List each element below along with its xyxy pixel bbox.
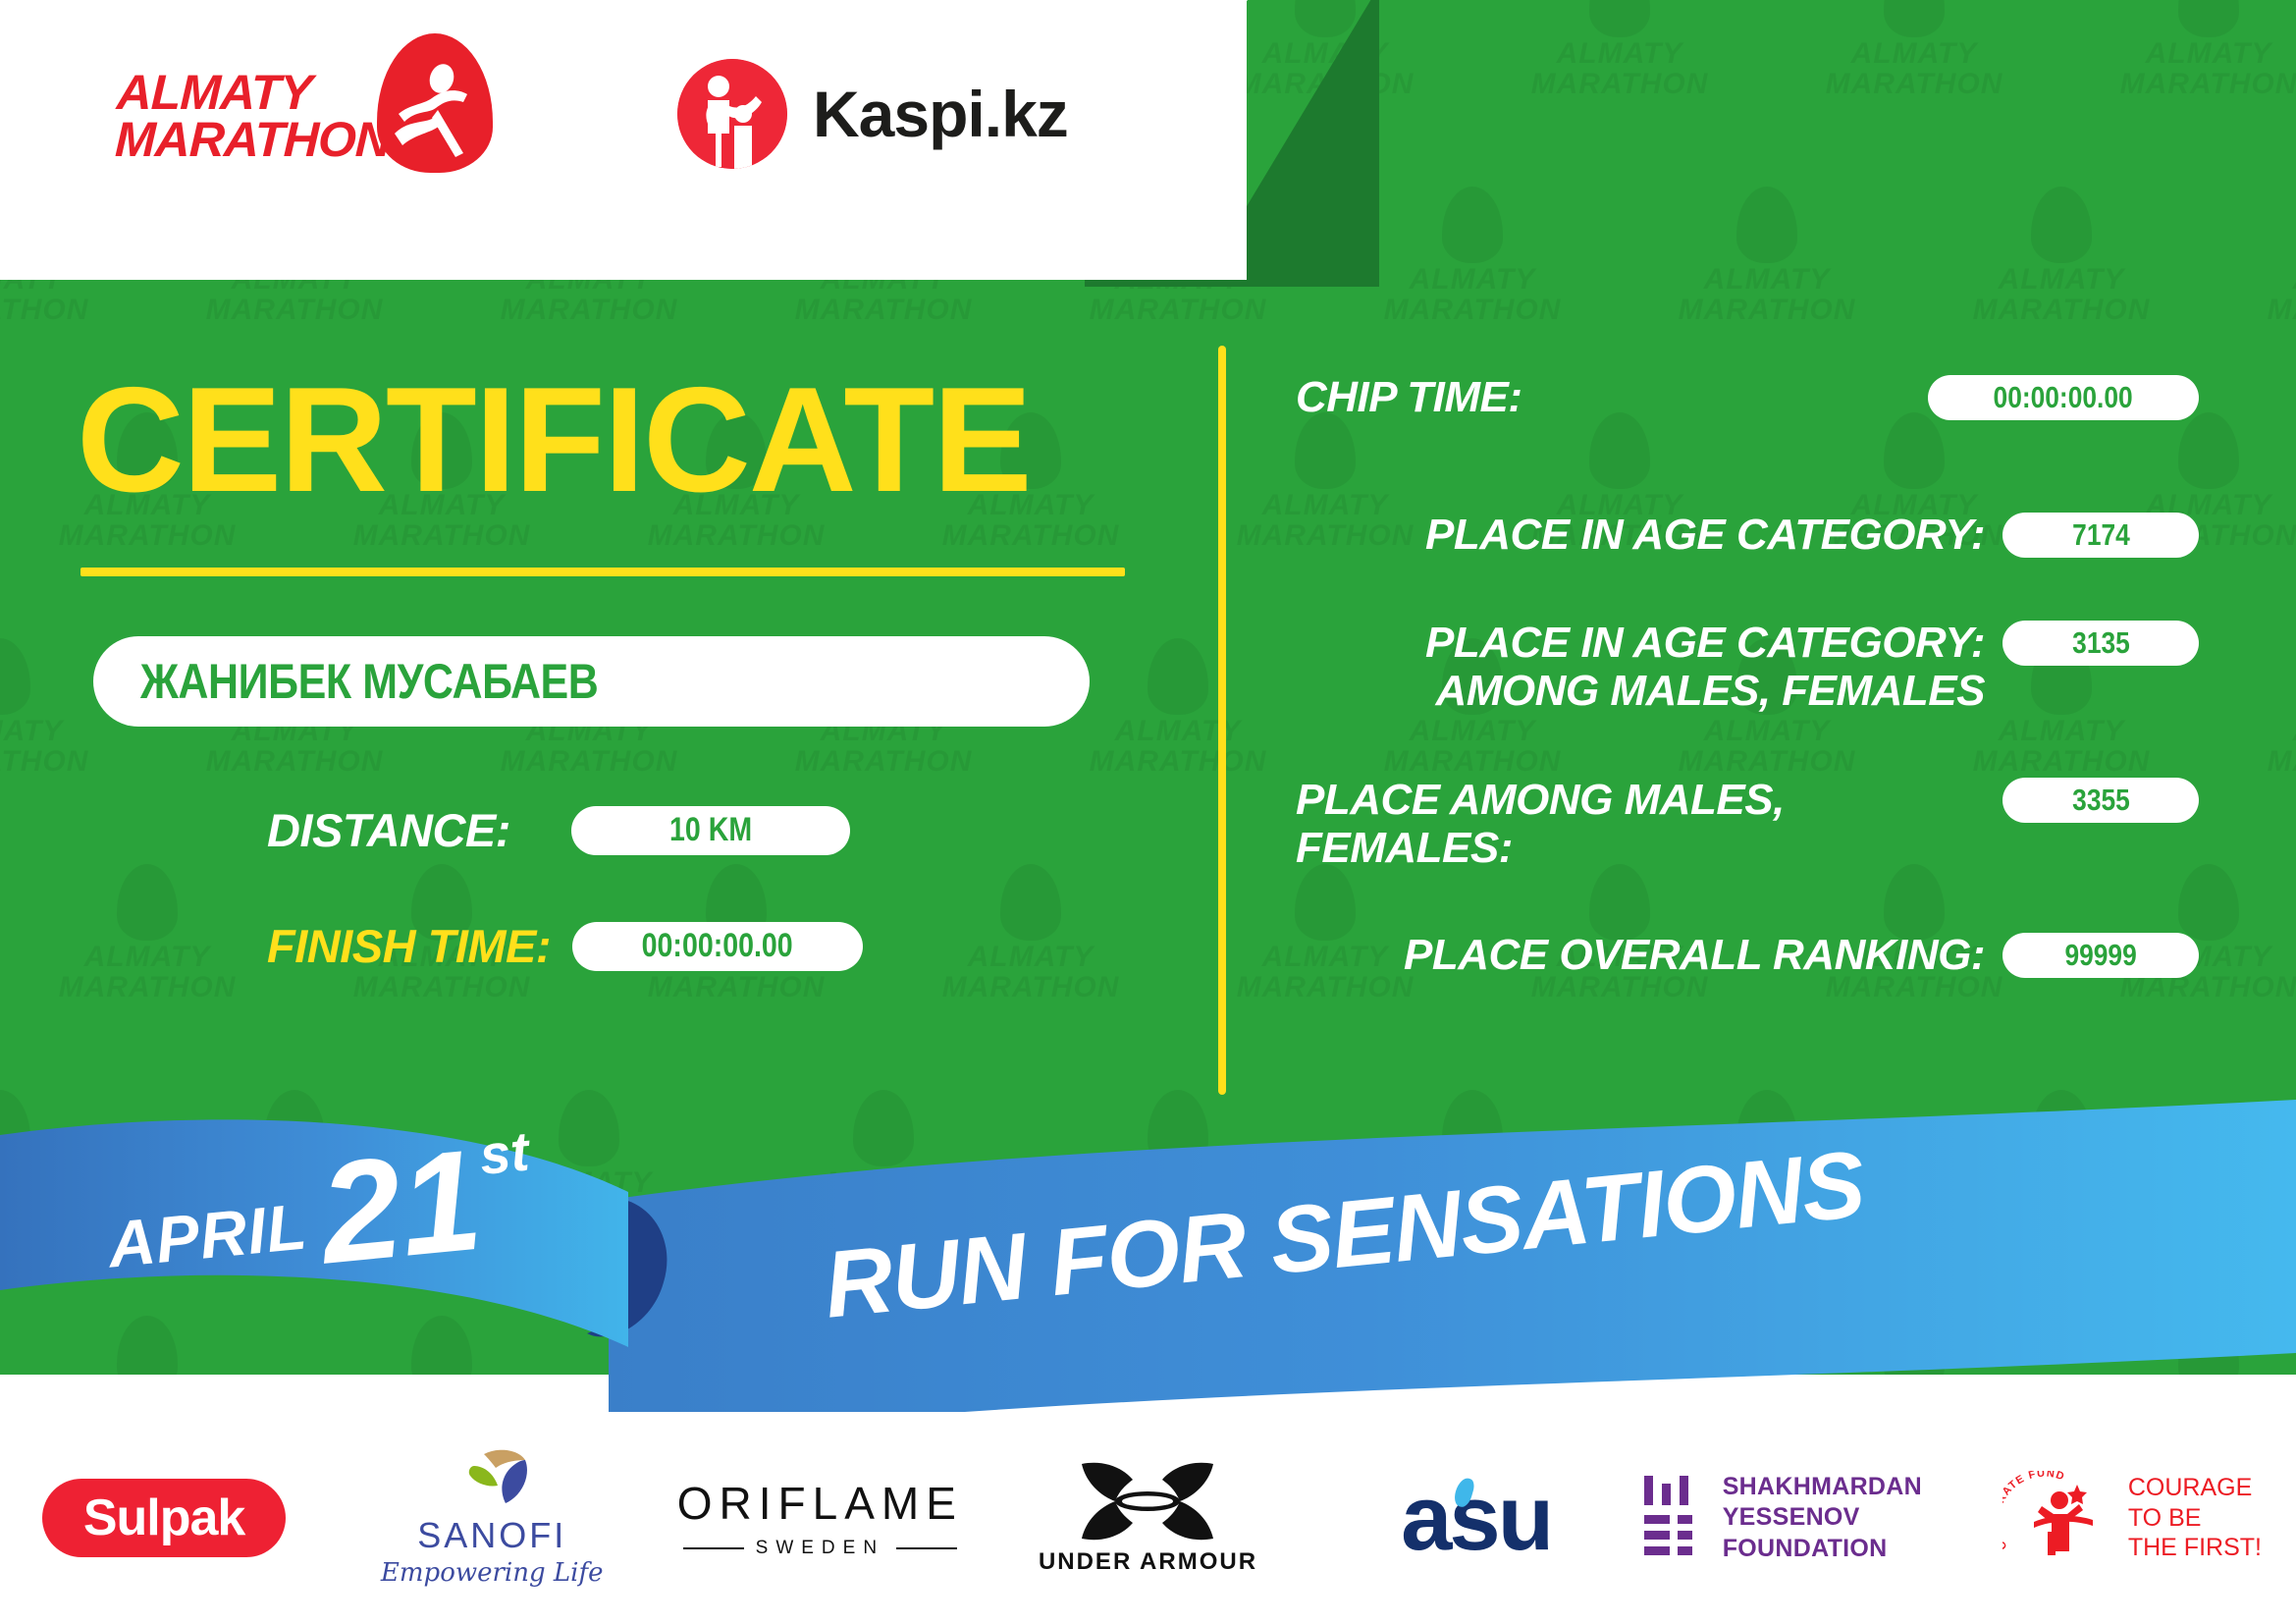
page-title: CERTIFICATE [77,365,1031,514]
place-age-category-gender-value: 3135 [2072,625,2130,661]
sponsor-item: Sulpak [0,1412,328,1624]
finish-time-value-field: 00:00:00.00 [572,922,863,971]
courage-line-1: COURAGE [2128,1473,2262,1503]
kaspi-wordmark: Kaspi.kz [813,77,1068,151]
watermark-tile: ALMATYMARATHON [1767,0,2061,99]
watermark-line-2: MARATHON [294,521,589,552]
place-age-category-gender-label: PLACE IN AGE CATEGORY: AMONG MALES, FEMA… [1296,619,2002,716]
place-gender-value-field: 3355 [2002,778,2199,823]
watermark-line-2: MARATHON [442,747,736,778]
stat-row: PLACE AMONG MALES, FEMALES: 3355 [1296,776,2199,873]
watermark-line-2: MARATHON [1472,70,1767,100]
watermark-drop-icon [117,864,178,941]
sponsor-item: SHAKHMARDAN YESSENOV FOUNDATION [1640,1412,1968,1624]
courage-line-3: THE FIRST! [2128,1533,2262,1563]
watermark-line-2: MARATHON [1620,747,1914,778]
watermark-line-2: MARATHON [147,296,442,326]
label-line-1: PLACE IN AGE CATEGORY: [1296,619,1985,667]
finish-time-value: 00:00:00.00 [642,927,793,965]
yessenov-mark-icon [1640,1476,1701,1560]
finish-time-row: FINISH TIME: 00:00:00.00 [267,919,863,973]
label-line-1: PLACE AMONG MALES, [1296,776,1985,824]
label-line-2: AMONG MALES, FEMALES [1296,667,1985,715]
watermark-tile: ALMATYMARATHON [2061,0,2296,99]
watermark-line-2: MARATHON [1325,747,1620,778]
watermark-line-2: MARATHON [736,296,1031,326]
watermark-line-2: MARATHON [1031,296,1325,326]
place-age-category-label: PLACE IN AGE CATEGORY: [1296,511,2002,559]
column-divider [1218,346,1226,1095]
courage-line-2: TO BE [2128,1503,2262,1534]
watermark-tile: ALMATYMARATHON [1620,187,1914,325]
watermark-drop-icon [1295,864,1356,941]
under-armour-wordmark: UNDER ARMOUR [1039,1548,1257,1576]
sulpak-logo: Sulpak [42,1479,287,1557]
watermark-line-1: ALMATY [2209,717,2296,747]
watermark-line-2: MARATHON [883,973,1178,1003]
divider-line-right [896,1547,957,1549]
yessenov-wordmark: SHAKHMARDAN YESSENOV FOUNDATION [1723,1472,1968,1564]
chip-time-value-field: 00:00:00.00 [1928,375,2199,420]
almaty-marathon-logo: ALMATY MARATHON [116,59,493,173]
watermark-line-1: ALMATY [1767,39,2061,70]
place-age-category-gender-value-field: 3135 [2002,621,2199,666]
watermark-drop-icon [0,638,30,715]
watermark-drop-icon [1148,638,1208,715]
watermark-line-2: MARATHON [147,747,442,778]
watermark-drop-icon [1884,0,1945,37]
watermark-drop-icon [1884,864,1945,941]
watermark-drop-icon [2178,412,2239,489]
kaspi-people-icon [677,59,787,169]
place-overall-label: PLACE OVERALL RANKING: [1296,931,2002,979]
place-gender-label: PLACE AMONG MALES, FEMALES: [1296,776,2002,873]
watermark-drop-icon [1442,187,1503,263]
distance-row: DISTANCE: 10 KM [267,803,850,857]
watermark-line-1: ALMATY [1031,717,1325,747]
watermark-drop-icon [2178,864,2239,941]
watermark-line-1: ALMATY [1620,265,1914,296]
watermark-line-2: MARATHON [1325,296,1620,326]
watermark-tile: ALMATYMARATHON [883,864,1178,1002]
watermark-tile: ALMATYMARATHON [0,864,294,1002]
stat-row: CHIP TIME: 00:00:00.00 [1296,373,2199,421]
watermark-tile: ALMATYMARATHON [2209,187,2296,325]
watermark-line-2: MARATHON [1914,747,2209,778]
courage-to-be-the-first-logo: CORPORATE FUND COURAGE TO BE THE FIRST! [2002,1471,2262,1565]
place-gender-value: 3355 [2072,783,2130,818]
watermark-tile: ALMATYMARATHON [1914,187,2209,325]
watermark-line-1: ALMATY [2061,39,2296,70]
watermark-line-1: ALMATY [883,943,1178,973]
participant-name: ЖАНИБЕК МУСАБАЕВ [140,653,598,710]
yessenov-foundation-logo: SHAKHMARDAN YESSENOV FOUNDATION [1640,1472,1968,1564]
watermark-line-2: MARATHON [2061,70,2296,100]
sanofi-tagline: Empowering Life [381,1558,604,1588]
watermark-line-1: ALMATY [1914,265,2209,296]
distance-value: 10 KM [669,811,752,849]
watermark-line-2: MARATHON [1031,747,1325,778]
distance-value-field: 10 KM [571,806,850,855]
watermark-line-2: MARATHON [1914,296,2209,326]
sponsor-item: asu [1312,1412,1640,1624]
oriflame-wordmark: ORIFLAME [677,1477,963,1530]
chip-time-label: CHIP TIME: [1296,373,1928,421]
sponsor-bar: Sulpak SANOFI Empowering Life ORIFLAME [0,1412,2296,1624]
watermark-drop-icon [2031,187,2092,263]
courage-wordmark: COURAGE TO BE THE FIRST! [2128,1473,2262,1563]
event-day-suffix: st [477,1123,531,1183]
stat-row: PLACE IN AGE CATEGORY: AMONG MALES, FEMA… [1296,619,2199,716]
place-overall-value: 99999 [2064,938,2136,973]
sponsor-item: CORPORATE FUND COURAGE TO BE THE FIRST! [1968,1412,2296,1624]
yessenov-line-2: FOUNDATION [1723,1534,1968,1564]
watermark-drop-icon [1295,412,1356,489]
watermark-line-1: ALMATY [1325,717,1620,747]
watermark-tile: ALMATYMARATHON [1472,0,1767,99]
watermark-line-2: MARATHON [0,296,147,326]
oriflame-country: SWEDEN [756,1538,884,1559]
asu-logo: asu [1401,1472,1551,1564]
watermark-line-2: MARATHON [442,296,736,326]
watermark-line-2: MARATHON [0,521,294,552]
finish-time-label: FINISH TIME: [267,919,551,973]
watermark-drop-icon [1884,412,1945,489]
watermark-line-2: MARATHON [589,521,883,552]
oriflame-sub: SWEDEN [683,1538,957,1559]
stat-row: PLACE OVERALL RANKING: 99999 [1296,931,2199,979]
watermark-line-2: MARATHON [294,973,589,1003]
title-underline [80,568,1125,576]
place-overall-value-field: 99999 [2002,933,2199,978]
under-armour-logo: UNDER ARMOUR [1039,1460,1257,1576]
watermark-drop-icon [1589,412,1650,489]
under-armour-mark-icon [1074,1460,1221,1543]
sanofi-logo: SANOFI Empowering Life [381,1448,604,1588]
watermark-line-2: MARATHON [2209,747,2296,778]
place-age-category-value-field: 7174 [2002,513,2199,558]
stat-row: PLACE IN AGE CATEGORY: 7174 [1296,511,2199,559]
watermark-line-2: MARATHON [2209,296,2296,326]
distance-label: DISTANCE: [267,803,510,857]
participant-name-field: ЖАНИБЕК МУСАБАЕВ [93,636,1090,727]
watermark-line-2: MARATHON [0,747,147,778]
label-line-2: FEMALES: [1296,824,1985,872]
watermark-line-1: ALMATY [2209,265,2296,296]
courage-mark-icon: CORPORATE FUND [2002,1471,2116,1565]
event-day: 21 [316,1138,487,1274]
sponsor-item: UNDER ARMOUR [984,1412,1311,1624]
watermark-line-2: MARATHON [1620,296,1914,326]
watermark-line-2: MARATHON [0,973,294,1003]
divider-line-left [683,1547,744,1549]
watermark-drop-icon [1589,0,1650,37]
watermark-line-2: MARATHON [883,521,1178,552]
watermark-line-1: ALMATY [1472,39,1767,70]
yessenov-line-1: SHAKHMARDAN YESSENOV [1723,1472,1968,1534]
oriflame-logo: ORIFLAME SWEDEN [677,1477,963,1559]
place-age-category-value: 7174 [2072,517,2130,553]
watermark-line-1: ALMATY [1914,717,2209,747]
watermark-line-1: ALMATY [0,943,294,973]
sponsor-item: SANOFI Empowering Life [328,1412,656,1624]
sponsor-item: ORIFLAME SWEDEN [656,1412,984,1624]
sanofi-mark-icon [451,1448,533,1509]
watermark-line-2: MARATHON [589,973,883,1003]
watermark-line-1: ALMATY [1620,717,1914,747]
brand-line-1: ALMATY [116,70,393,117]
runner-glyph-icon [391,63,481,161]
watermark-drop-icon [1000,864,1061,941]
watermark-line-2: MARATHON [736,747,1031,778]
certificate-page: ALMATYMARATHONALMATYMARATHONALMATYMARATH… [0,0,2296,1624]
watermark-drop-icon [1736,187,1797,263]
kaspi-logo: Kaspi.kz [677,59,1068,169]
chip-time-value: 00:00:00.00 [1994,380,2133,415]
sanofi-wordmark: SANOFI [417,1515,566,1556]
watermark-drop-icon [2178,0,2239,37]
watermark-drop-icon [1589,864,1650,941]
almaty-marathon-wordmark: ALMATY MARATHON [114,70,392,163]
event-month: APRIL [105,1189,310,1282]
watermark-tile: ALMATYMARATHON [2209,638,2296,777]
asu-wordmark: asu [1401,1466,1551,1569]
brand-line-2: MARATHON [114,116,391,163]
watermark-line-2: MARATHON [1767,70,2061,100]
